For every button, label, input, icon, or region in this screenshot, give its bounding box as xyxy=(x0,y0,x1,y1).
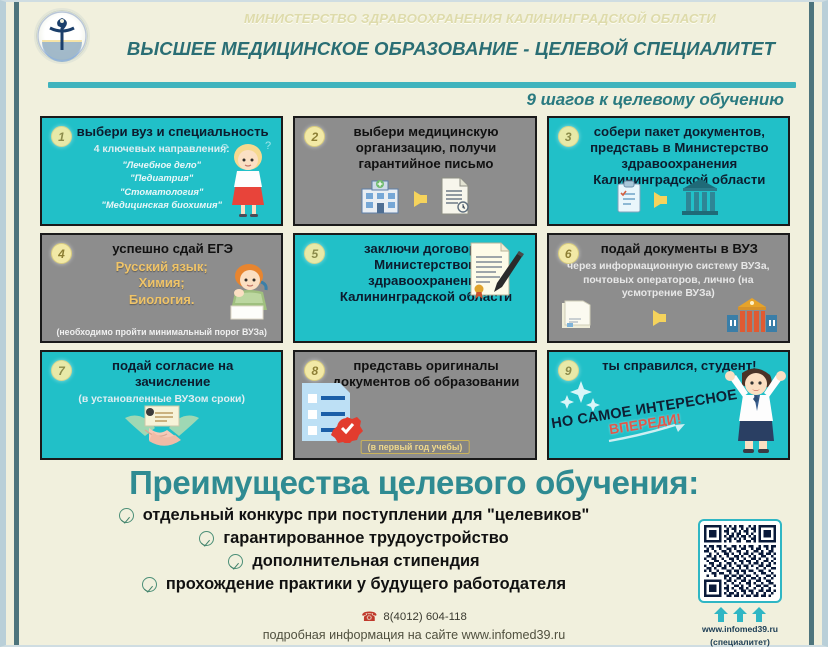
check-circle-icon xyxy=(199,531,214,546)
step-number-badge: 5 xyxy=(304,243,325,264)
contract-with-pen-icon xyxy=(467,241,525,308)
step-number-badge: 3 xyxy=(558,126,579,147)
steps-grid: 1 выбери вуз и специальность 4 ключевых … xyxy=(40,116,790,460)
bowl-of-hygieia-emblem-icon xyxy=(34,8,90,64)
girl-thinking-icon: ? ? xyxy=(219,135,277,222)
list-item: дополнительная стипендия xyxy=(30,552,678,571)
step-number-badge: 8 xyxy=(304,360,325,381)
handshake-with-certificate-icon xyxy=(123,404,201,457)
cheering-student-icon xyxy=(724,365,786,458)
hospital-building-icon xyxy=(358,177,402,220)
step-card-3[interactable]: 3 собери пакет документов, представь в М… xyxy=(547,116,790,226)
step-card-6[interactable]: 6 подай документы в ВУЗ через информацио… xyxy=(547,233,790,343)
left-border-stripe xyxy=(14,2,19,645)
student-writing-exam-icon xyxy=(217,260,279,327)
subtitle-9-steps: 9 шагов к целевому обучению xyxy=(526,90,784,110)
step-number-badge: 6 xyxy=(558,243,579,264)
step-card-2[interactable]: 2 выбери медицинскую организацию, получи… xyxy=(293,116,536,226)
step-icon-row xyxy=(295,176,534,221)
step-note-chip: (в первый год учебы) xyxy=(361,440,470,454)
step-number-badge: 7 xyxy=(51,360,72,381)
page-title: ВЫСШЕЕ МЕДИЦИНСКОЕ ОБРАЗОВАНИЕ - ЦЕЛЕВОЙ… xyxy=(108,38,794,60)
step-title: подай согласие на зачисление xyxy=(76,358,269,390)
ministry-name: МИНИСТЕРСТВО ЗДРАВООХРАНЕНИЯ КАЛИНИНГРАД… xyxy=(170,11,790,26)
header-divider xyxy=(48,82,796,88)
step-number-badge: 1 xyxy=(51,126,72,147)
benefit-text: гарантированное трудоустройство xyxy=(223,529,508,548)
arrow-up-icon xyxy=(751,606,767,623)
svg-text:?: ? xyxy=(265,140,271,152)
step-card-8[interactable]: 8 представь оригиналы документов об обра… xyxy=(293,350,536,460)
benefit-text: дополнительная стипендия xyxy=(252,552,479,571)
benefits-list: отдельный конкурс при поступлении для "ц… xyxy=(30,506,678,598)
documents-stack-icon xyxy=(559,299,593,336)
step-title: подай документы в ВУЗ xyxy=(583,241,776,257)
arrow-right-icon xyxy=(653,310,666,326)
arrow-up-icon-group xyxy=(688,606,792,623)
step-number-badge: 2 xyxy=(304,126,325,147)
checklist-icon xyxy=(299,381,365,448)
document-icon xyxy=(439,176,471,221)
arrow-right-icon xyxy=(607,419,687,450)
right-border-stripe xyxy=(809,2,814,645)
government-building-icon xyxy=(679,178,721,221)
list-item: отдельный конкурс при поступлении для "ц… xyxy=(30,506,678,525)
step-card-4[interactable]: 4 успешно сдай ЕГЭ Русский язык; Химия; … xyxy=(40,233,283,343)
list-item: гарантированное трудоустройство xyxy=(30,529,678,548)
check-circle-icon xyxy=(119,508,134,523)
benefit-text: отдельный конкурс при поступлении для "ц… xyxy=(143,506,590,525)
step-icon-row xyxy=(549,297,788,338)
phone-number: 8(4012) 604-118 xyxy=(383,611,466,623)
arrow-right-icon xyxy=(654,192,667,208)
step-card-5[interactable]: 5 заключи договор с Министерством здраво… xyxy=(293,233,536,343)
telephone-icon: ☎ xyxy=(361,609,377,625)
svg-text:?: ? xyxy=(221,141,228,156)
step-note: (необходимо пройти минимальный порог ВУЗ… xyxy=(42,327,281,337)
benefit-text: прохождение практики у будущего работода… xyxy=(166,575,566,594)
clipboard-icon xyxy=(616,180,642,219)
step-card-7[interactable]: 7 подай согласие на зачисление (в устано… xyxy=(40,350,283,460)
qr-caption-note: (специалитет) xyxy=(688,637,792,647)
benefits-heading: Преимущества целевого обучения: xyxy=(20,464,808,502)
university-building-icon xyxy=(726,297,778,338)
step-card-1[interactable]: 1 выбери вуз и специальность 4 ключевых … xyxy=(40,116,283,226)
check-circle-icon xyxy=(228,554,243,569)
qr-caption-url: www.infomed39.ru xyxy=(688,624,792,636)
poster-header: МИНИСТЕРСТВО ЗДРАВООХРАНЕНИЯ КАЛИНИНГРАД… xyxy=(20,2,808,86)
arrow-right-icon xyxy=(414,191,427,207)
step-icon-row xyxy=(549,178,788,221)
infographic-poster: МИНИСТЕРСТВО ЗДРАВООХРАНЕНИЯ КАЛИНИНГРАД… xyxy=(0,0,828,647)
qr-code[interactable] xyxy=(698,519,782,603)
step-title: успешно сдай ЕГЭ xyxy=(76,241,269,257)
step-title: выбери медицинскую организацию, получи г… xyxy=(329,124,522,172)
arrow-up-icon xyxy=(732,606,748,623)
step-number-badge: 4 xyxy=(51,243,72,264)
step-subtext: через информационную систему ВУЗа, почто… xyxy=(557,260,780,301)
check-circle-icon xyxy=(142,577,157,592)
step-number-badge: 9 xyxy=(558,360,579,381)
arrow-up-icon xyxy=(713,606,729,623)
list-item: прохождение практики у будущего работода… xyxy=(30,575,678,594)
qr-block[interactable]: www.infomed39.ru (специалитет) xyxy=(688,519,792,647)
step-card-9[interactable]: 9 ты справился, студент! НО САМОЕ ИНТЕРЕ… xyxy=(547,350,790,460)
